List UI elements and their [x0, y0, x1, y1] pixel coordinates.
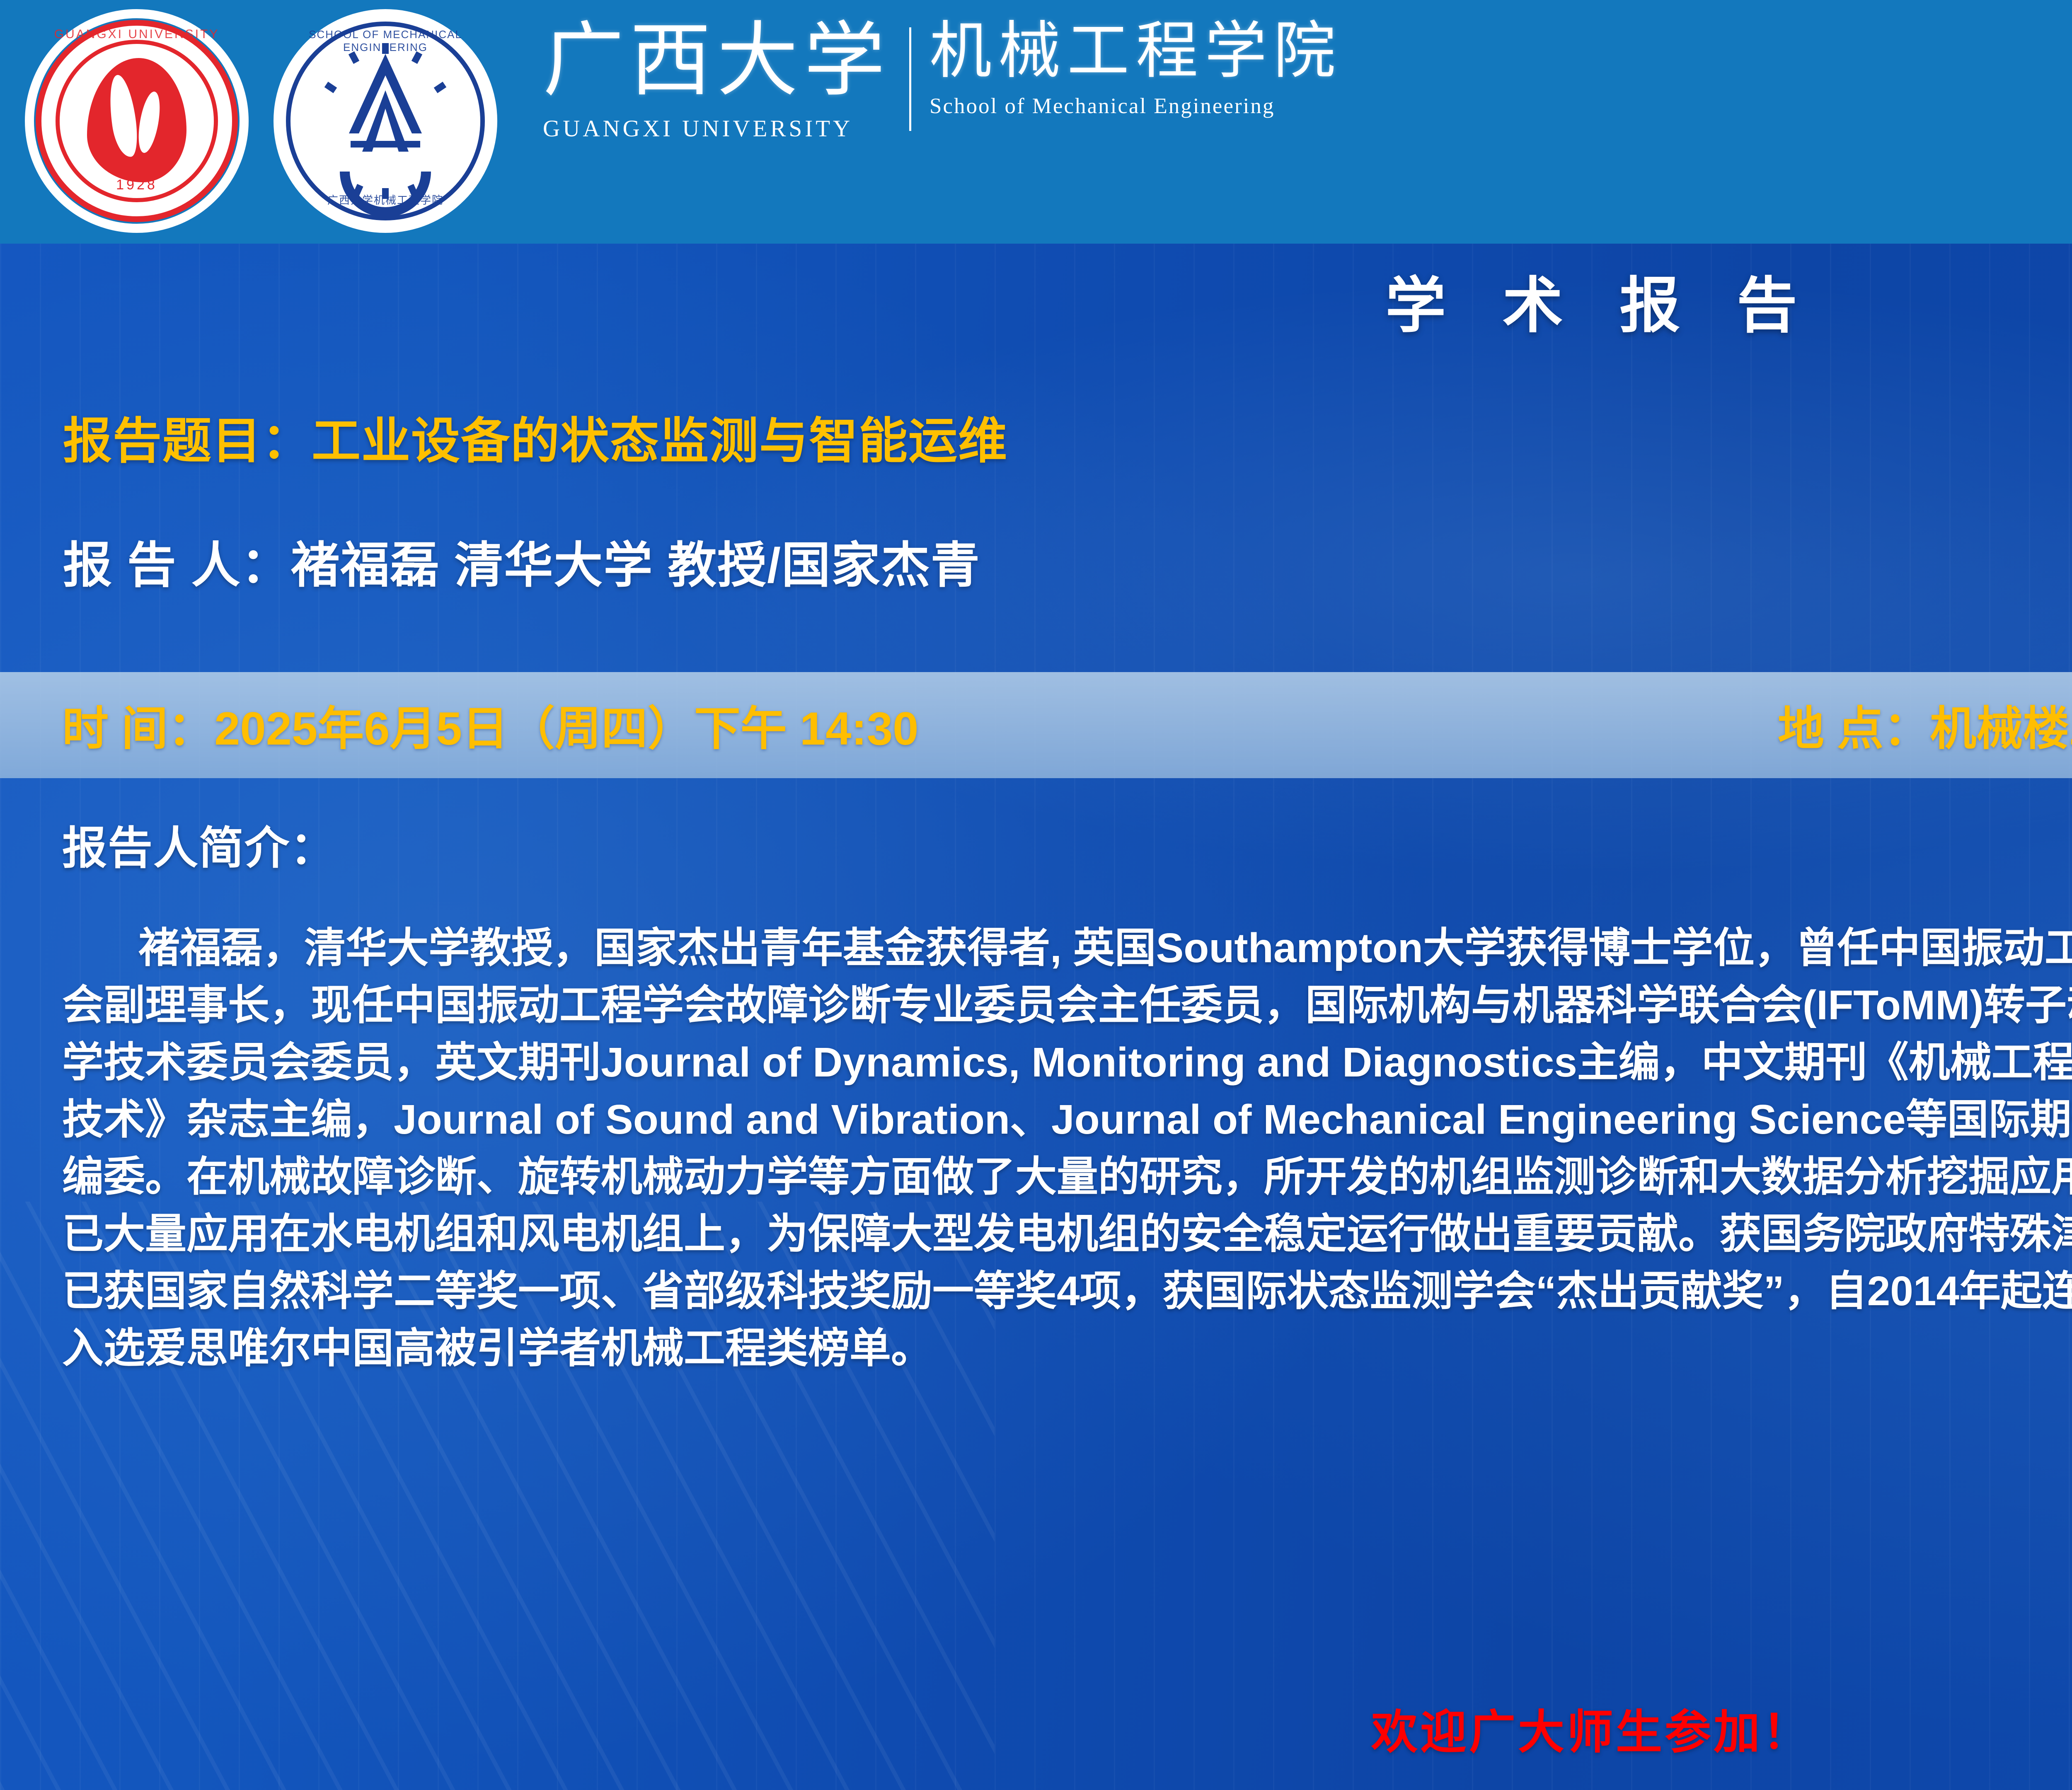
university-name-cn: 广西大学	[543, 20, 891, 101]
seal-micro-text: GUANGXI UNIVERSITY	[25, 27, 249, 41]
lecture-place-row: 地 点：机械楼二阶报告厅	[1778, 691, 2072, 758]
university-name-en: GUANGXI UNIVERSITY	[543, 115, 891, 142]
bio-line: 学技术委员会委员，英文期刊Journal of Dynamics, Monito…	[62, 1038, 2072, 1086]
bio-line: 已获国家自然科学二等奖一项、省部级科技奖励一等奖4项，获国际状态监测学会“杰出贡…	[62, 1267, 2072, 1315]
bio-line: 褚福磊，清华大学教授，国家杰出青年基金获得者, 英国Southampton大学获…	[62, 924, 2072, 972]
school-name-en: School of Mechanical Engineering	[929, 94, 1342, 119]
school-of-mechanical-engineering-gear-icon: SCHOOL OF MECHANICAL ENGINEERING 广西大学机械工…	[274, 9, 497, 233]
gear-caption-cn: 广西大学机械工程学院	[274, 192, 497, 207]
speaker-bio-heading: 报告人简介：	[62, 812, 336, 877]
lecture-time-row: 时 间：2025年6月5日（周四）下午 14:30	[62, 691, 918, 758]
academic-lecture-poster: GUANGXI UNIVERSITY 1928	[0, 0, 2072, 1790]
page-title: 学 术 报 告	[0, 257, 2072, 344]
wordmark-divider	[909, 27, 911, 131]
guangxi-university-seal-icon: GUANGXI UNIVERSITY 1928	[25, 9, 249, 233]
bio-line: 技术》杂志主编，Journal of Sound and Vibration、J…	[62, 1096, 2072, 1144]
bio-line: 已大量应用在水电机组和风电机组上，为保障大型发电机组的安全稳定运行做出重要贡献。…	[62, 1210, 2072, 1258]
school-name-cn: 机械工程学院	[929, 20, 1342, 82]
bio-line: 会副理事长，现任中国振动工程学会故障诊断专业委员会主任委员，国际机构与机器科学联…	[62, 981, 2072, 1029]
university-wordmark: 广西大学 GUANGXI UNIVERSITY 机械工程学院 School of…	[543, 20, 1342, 142]
speaker-bio-text: 褚福磊，清华大学教授，国家杰出青年基金获得者, 英国Southampton大学获…	[62, 924, 2072, 1381]
welcome-footer: 欢迎广大师生参加！	[0, 1695, 2072, 1762]
bio-line: 编委。在机械故障诊断、旋转机械动力学等方面做了大量的研究，所开发的机组监测诊断和…	[62, 1153, 2072, 1201]
lecture-topic-row: 报告题目：工业设备的状态监测与智能运维	[63, 401, 1008, 472]
poster-header: GUANGXI UNIVERSITY 1928	[0, 0, 2072, 244]
lecture-speaker-row: 报 告 人：褚福磊 清华大学 教授/国家杰青	[63, 525, 980, 596]
seal-year: 1928	[25, 177, 249, 193]
gear-caption-en: SCHOOL OF MECHANICAL ENGINEERING	[274, 28, 497, 54]
time-and-place-band: 时 间：2025年6月5日（周四）下午 14:30 地 点：机械楼二阶报告厅	[0, 672, 2072, 778]
bio-line: 入选爱思唯尔中国高被引学者机械工程类榜单。	[62, 1324, 2072, 1372]
